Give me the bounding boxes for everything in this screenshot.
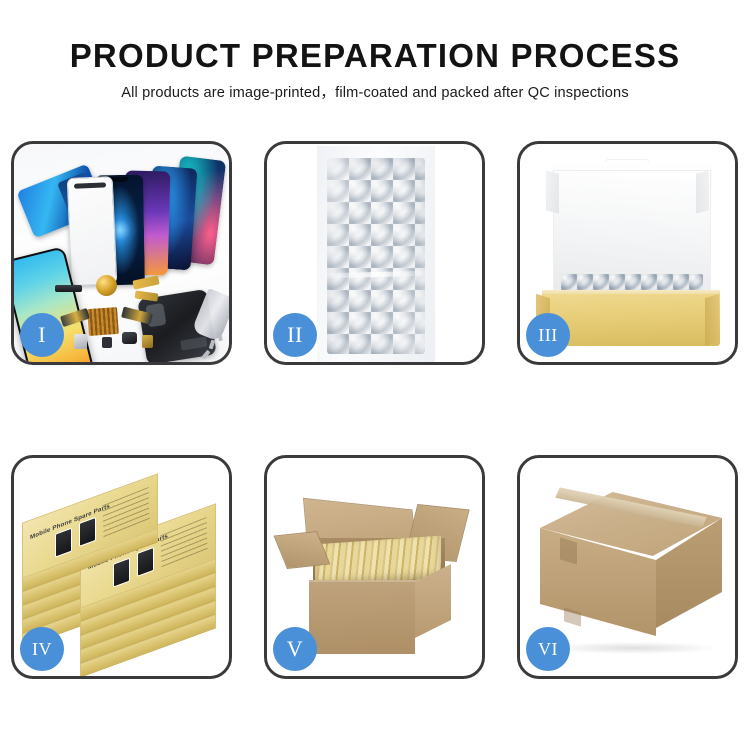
connector-part-a [74,334,87,349]
connector-part-b [102,337,112,348]
step-badge-2: II [273,313,317,357]
vibration-motor-part [96,275,117,296]
box-spec-lines [102,487,149,539]
carton-front-panel [309,582,415,654]
mailer-lid-right-flap [696,170,709,213]
flex-cable-part-b [135,290,159,301]
step-badge-5: V [273,627,317,671]
phone-glass-panel [67,176,118,286]
product-preparation-infographic: PRODUCT PREPARATION PROCESS All products… [0,0,750,750]
bubble-wrap-texture [327,158,425,354]
mailer-right-side [705,294,719,346]
step-badge-6: VI [526,627,570,671]
mailer-back-wall [553,170,711,290]
step-badge-3: III [526,313,570,357]
box-spec-lines [160,517,207,569]
mailer-lid-left-flap [546,170,559,213]
step-panel-1[interactable]: I [11,141,232,365]
step-badge-4: IV [20,627,64,671]
camera-module-part [122,332,137,344]
connector-part-c [142,335,153,348]
phone-notch-icon [111,177,128,182]
step-panel-2[interactable]: II [264,141,485,365]
box-artwork-screen-b [79,517,96,547]
step-panel-4[interactable]: Mobile Phone Spare Parts Mobile Phone Sp… [11,455,232,679]
page-subtitle: All products are image-printed，film-coat… [0,83,750,103]
step-panel-5[interactable]: V [264,455,485,679]
header: PRODUCT PREPARATION PROCESS All products… [0,0,750,103]
step-panel-3[interactable]: III [517,141,738,365]
step-panel-6[interactable]: VI [517,455,738,679]
earpiece-speaker-part [55,285,82,292]
box-artwork-screen-a [55,528,72,558]
page-title: PRODUCT PREPARATION PROCESS [0,36,750,76]
chip-array-part [87,307,119,336]
carton-shadow [550,642,718,654]
step-badge-1: I [20,313,64,357]
steps-grid: I II [11,141,739,681]
